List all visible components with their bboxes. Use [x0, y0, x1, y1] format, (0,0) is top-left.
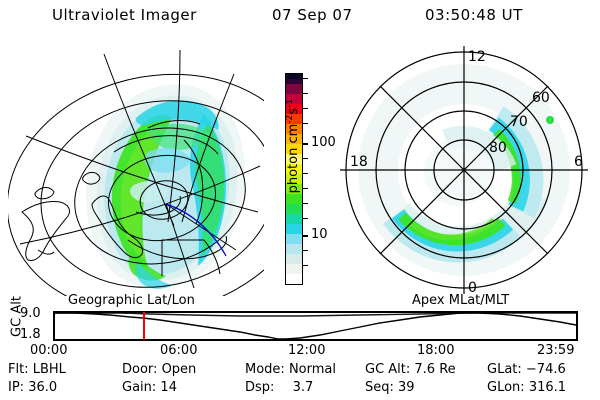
colorbar-unit-exp1: -2: [285, 115, 295, 124]
colorbar-tick: [303, 188, 308, 189]
strip-xtick-2: 12:00: [288, 343, 325, 358]
colorbar-tick: [303, 93, 308, 94]
status-key: IP:: [8, 380, 24, 395]
altitude-time-strip[interactable]: Geographic Lat/Lon Apex MLat/MLT GC Alt …: [0, 296, 600, 356]
mlt-label-18: 18: [350, 154, 368, 170]
status-dsp: Dsp: 3.7: [245, 380, 313, 395]
status-flight-mode: Flt: LBHL: [8, 362, 66, 377]
strip-xtick-0: 00:00: [30, 343, 67, 358]
mlt-label-12: 12: [468, 49, 486, 65]
altitude-curve: [55, 313, 576, 339]
status-gain: Gain: 14: [122, 380, 177, 395]
mlat-label-80: 80: [489, 140, 507, 156]
mlt-label-6: 6: [574, 154, 583, 170]
colorbar-tick: [303, 158, 308, 159]
colorbar-major-tick: [303, 143, 308, 145]
colorbar-tick: [303, 218, 308, 219]
status-value: −74.6: [526, 362, 566, 377]
header-bar: Ultraviolet Imager 07 Sep 07 03:50:48 UT: [0, 6, 600, 30]
colorbar-tick: [303, 203, 308, 204]
colorbar-unit-exp2: -1: [285, 99, 295, 108]
strip-xtick-3: 18:00: [417, 343, 454, 358]
status-key: Mode:: [245, 362, 285, 377]
mlat-label-60: 60: [532, 90, 550, 106]
colorbar-label-100: 100: [311, 136, 336, 149]
status-value: Open: [162, 362, 197, 377]
status-key: GLon:: [487, 380, 525, 395]
colorbar: 100 10 photon cm-2s-1: [262, 60, 338, 300]
status-readout: Flt: LBHL Door: Open Mode: Normal GC Alt…: [0, 362, 600, 400]
colorbar-unit-mid: s: [286, 108, 301, 115]
status-seq: Seq: 39: [365, 380, 415, 395]
status-value: Normal: [289, 362, 336, 377]
mlt-spokes: [340, 46, 588, 294]
colorbar-axis-label: photon cm-2s-1: [285, 71, 301, 221]
status-mode: Mode: Normal: [245, 362, 336, 377]
status-key: Dsp:: [245, 380, 274, 395]
observation-date: 07 Sep 07: [272, 6, 352, 24]
status-key: GLat:: [487, 362, 522, 377]
strip-xtick-1: 06:00: [160, 343, 197, 358]
colorbar-tick: [303, 265, 308, 266]
magnetic-svg: 12 6 0 18 60 70 80: [336, 44, 592, 296]
status-value: LBHL: [33, 362, 66, 377]
status-key: Flt:: [8, 362, 29, 377]
colorbar-tick: [303, 123, 308, 124]
geographic-svg: [8, 44, 264, 296]
status-value: 14: [160, 380, 177, 395]
instrument-title: Ultraviolet Imager: [52, 6, 197, 24]
colorbar-label-10: 10: [311, 228, 328, 241]
status-key: Door:: [122, 362, 157, 377]
status-value: 36.0: [28, 380, 57, 395]
status-glon: GLon: 316.1: [487, 380, 566, 395]
status-value: 7.6 Re: [414, 362, 455, 377]
status-gc-altitude: GC Alt: 7.6 Re: [365, 362, 456, 377]
colorbar-unit-main: photon cm: [286, 124, 301, 194]
colorbar-major-tick: [303, 235, 308, 237]
status-key: Seq:: [365, 380, 394, 395]
status-key: GC Alt:: [365, 362, 410, 377]
status-glat: GLat: −74.6: [487, 362, 566, 377]
colorbar-tick: [303, 173, 308, 174]
status-door: Door: Open: [122, 362, 196, 377]
colorbar-tick: [303, 108, 308, 109]
colorbar-tick: [303, 250, 308, 251]
status-value: 316.1: [529, 380, 566, 395]
magnetic-aurora-plot[interactable]: 12 6 0 18 60 70 80: [336, 44, 592, 296]
status-key: Gain:: [122, 380, 156, 395]
status-value: 3.7: [293, 380, 314, 395]
observation-time: 03:50:48 UT: [425, 6, 523, 24]
mlat-label-70: 70: [510, 114, 528, 130]
current-time-marker: [143, 312, 145, 340]
colorbar-tick: [303, 78, 308, 79]
status-value: 39: [398, 380, 415, 395]
status-ip: IP: 36.0: [8, 380, 57, 395]
geographic-aurora-plot[interactable]: [8, 44, 264, 296]
strip-xtick-4: 23:59: [537, 343, 574, 358]
